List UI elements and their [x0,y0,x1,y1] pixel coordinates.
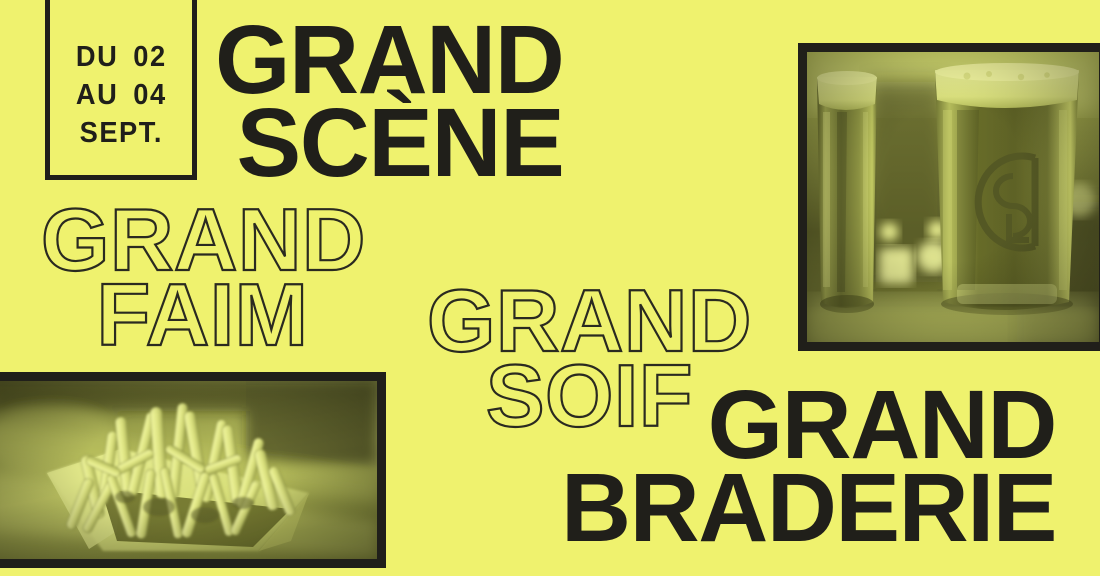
headline-grand-braderie: GRAND BRADERIE [561,384,1056,550]
date-to-day: 04 [133,79,166,111]
date-from-day: 02 [133,41,166,73]
headline-grand-scene-line2: SCÈNE [215,102,563,185]
date-line-month: SEPT. [79,115,162,153]
date-to-label: AU [76,79,118,111]
date-line-from: DU02 [76,39,167,77]
beer-photo-frame [798,43,1100,351]
date-from-label: DU [76,41,118,73]
headline-grand-scene: GRAND SCÈNE [215,19,563,185]
beer-photo [807,52,1099,342]
headline-grand-faim: GRAND FAIM [41,202,366,352]
headline-grand-braderie-line2: BRADERIE [561,467,1056,550]
poster-canvas: DU02 AU04 SEPT. GRAND SCÈNE GRAND FAIM G… [0,0,1100,576]
fries-photo-frame [0,372,386,568]
beer-photo-artwork [807,52,1099,342]
fries-photo [0,381,377,559]
date-badge: DU02 AU04 SEPT. [45,0,197,180]
fries-photo-artwork [0,381,377,559]
date-line-to: AU04 [76,77,167,115]
